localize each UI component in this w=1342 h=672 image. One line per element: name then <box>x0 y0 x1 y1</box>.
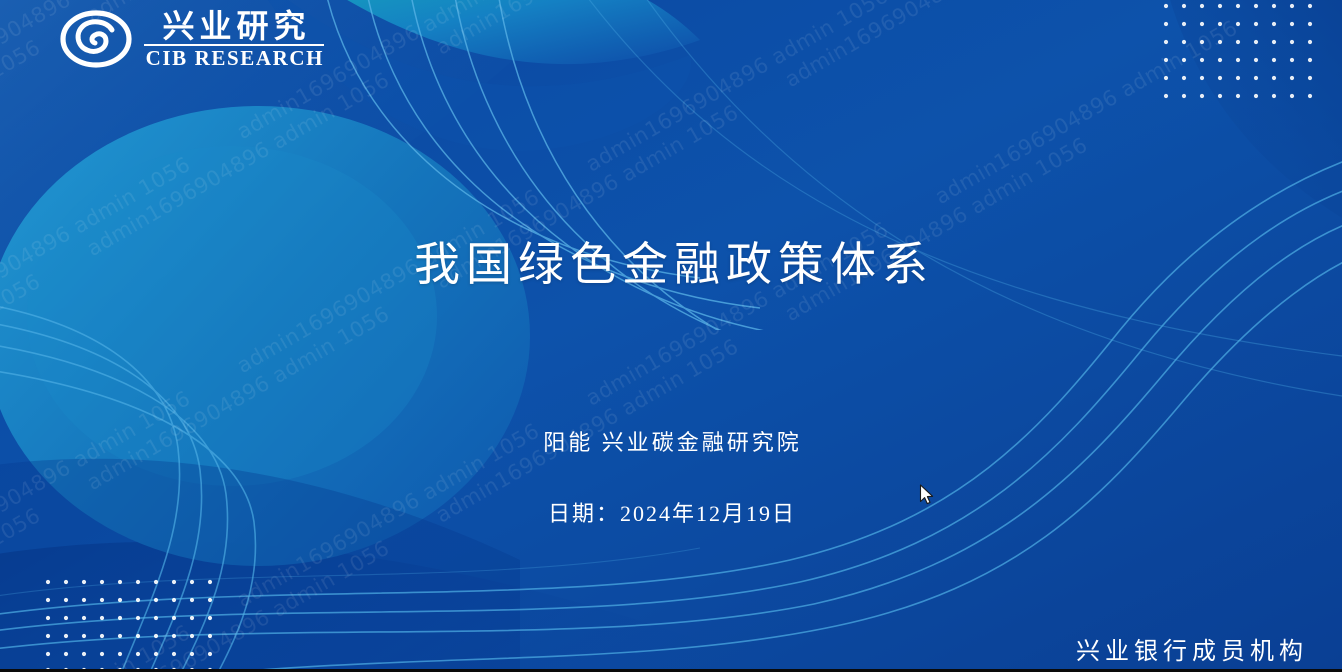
cib-research-logo: 兴业研究 CIB RESEARCH <box>60 8 324 70</box>
slide-date: 日期：2024年12月19日 <box>0 496 1342 528</box>
logo-chinese-name: 兴业研究 <box>158 9 311 44</box>
logo-wordmark: 兴业研究 CIB RESEARCH <box>144 9 324 70</box>
slide-background-artwork <box>0 0 1342 672</box>
presentation-slide: admin1696904896 admin 1056admin169690489… <box>0 0 1342 672</box>
logo-english-name: CIB RESEARCH <box>144 48 324 69</box>
slide-author: 阳能 兴业碳金融研究院 <box>0 425 1342 457</box>
cib-spiral-mark-icon <box>60 8 132 70</box>
slide-title: 我国绿色金融政策体系 <box>0 228 1342 294</box>
footer-brand-text: 兴业银行成员机构 <box>1071 631 1308 666</box>
